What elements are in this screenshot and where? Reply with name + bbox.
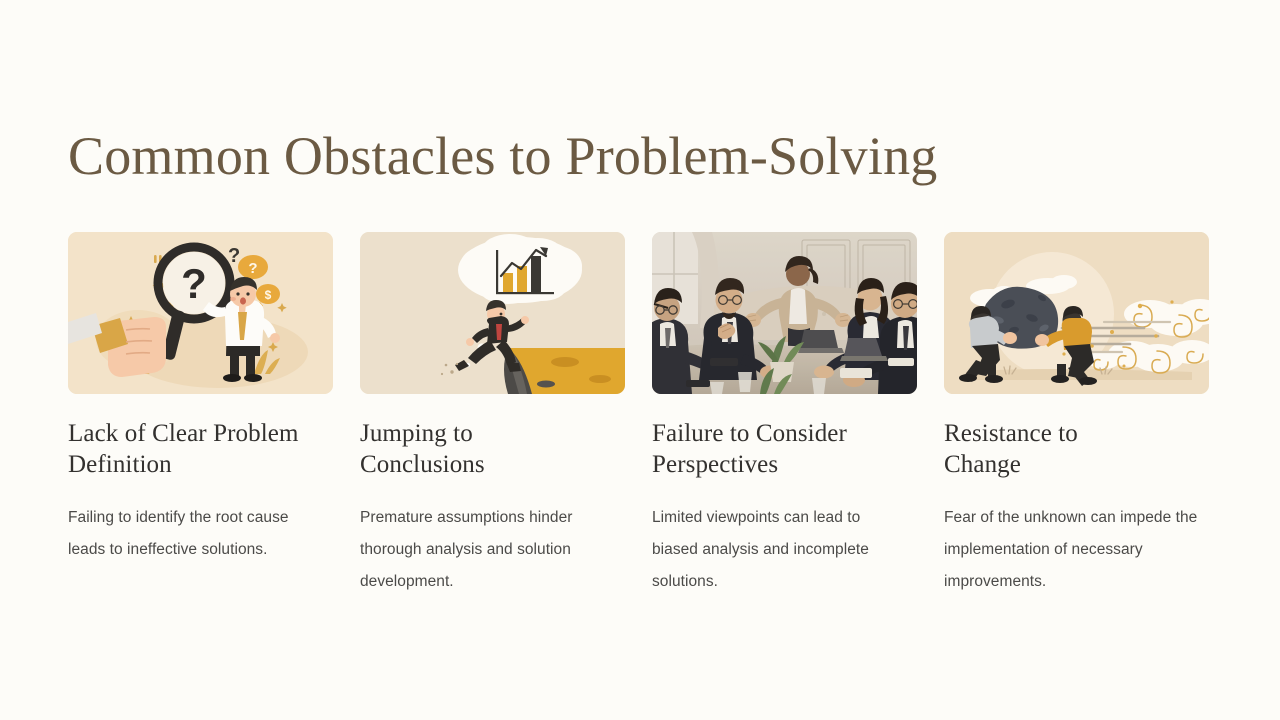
card-heading: Resistance to Change: [944, 418, 1134, 480]
page-title: Common Obstacles to Problem-Solving: [68, 124, 937, 188]
card-body-text: Premature assumptions hinder thorough an…: [360, 502, 625, 598]
card-body-text: Limited viewpoints can lead to biased an…: [652, 502, 910, 598]
svg-text:?: ?: [228, 245, 240, 267]
obstacle-card[interactable]: ? $ ? ?: [68, 232, 333, 598]
card-image-pushing-boulder: [944, 232, 1209, 394]
card-body-text: Failing to identify the root cause leads…: [68, 502, 313, 566]
card-heading: Failure to Consider Perspectives: [652, 418, 902, 480]
obstacle-card[interactable]: Jumping to Conclusions Premature assumpt…: [360, 232, 625, 598]
obstacle-card[interactable]: Failure to Consider Perspectives Limited…: [652, 232, 917, 598]
svg-text:?: ?: [181, 260, 207, 307]
card-image-business-meeting-photo: [652, 232, 917, 394]
card-body-text: Fear of the unknown can impede the imple…: [944, 502, 1206, 598]
svg-text:$: $: [265, 288, 272, 302]
card-image-running-off-cliff: [360, 232, 625, 394]
svg-text:?: ?: [248, 260, 257, 277]
obstacle-card-grid: ? $ ? ?: [68, 232, 1212, 598]
card-image-magnifying-glass: ? $ ? ?: [68, 232, 333, 394]
obstacle-card[interactable]: Resistance to Change Fear of the unknown…: [944, 232, 1209, 598]
card-heading: Lack of Clear Problem Definition: [68, 418, 323, 480]
slide-root: Common Obstacles to Problem-Solving: [0, 0, 1280, 720]
card-heading: Jumping to Conclusions: [360, 418, 560, 480]
